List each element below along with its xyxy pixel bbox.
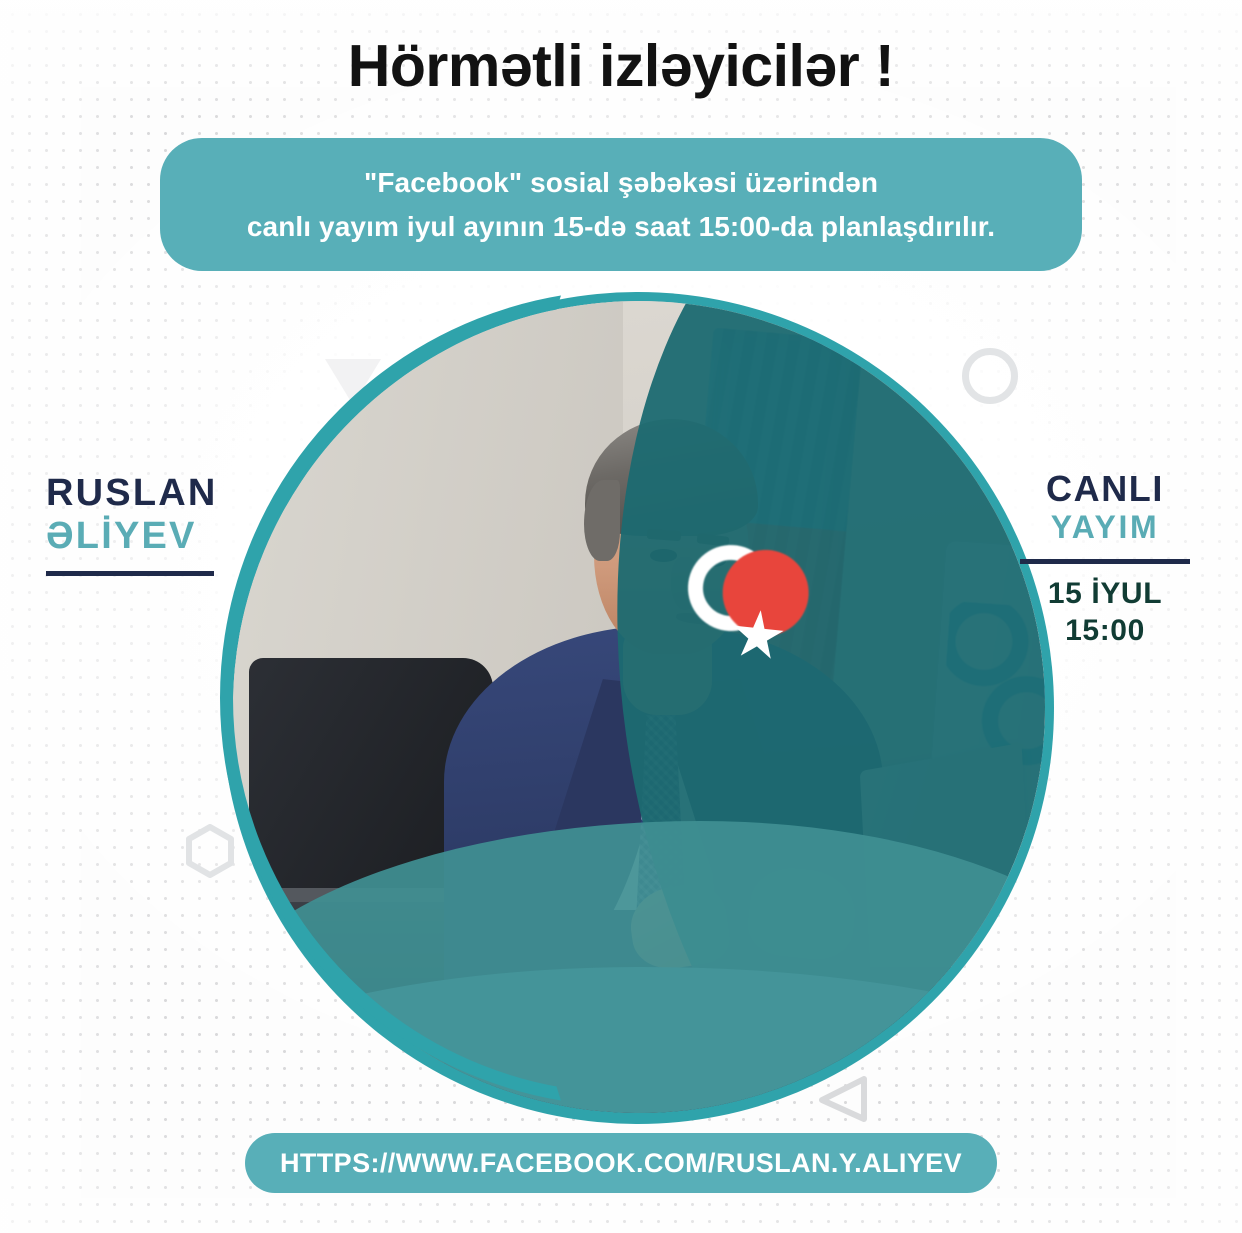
portrait-photo xyxy=(222,292,1054,1124)
announcement-line-1: "Facebook" sosial şəbəkəsi üzərindən xyxy=(364,167,878,199)
live-time: 15:00 xyxy=(1010,613,1200,650)
speaker-name-block: RUSLAN ƏLİYEV xyxy=(46,474,218,576)
facebook-url-text: HTTPS://WWW.FACEBOOK.COM/RUSLAN.Y.ALIYEV xyxy=(280,1148,962,1179)
speaker-last-name: ƏLİYEV xyxy=(46,514,218,560)
page-title: Hörmətli izləyicilər ! xyxy=(0,32,1242,100)
speaker-name-underline xyxy=(46,571,214,576)
announcement-line-2: canlı yayım iyul ayının 15-də saat 15:00… xyxy=(247,211,995,243)
live-date: 15 İYUL xyxy=(1010,576,1200,613)
poster-canvas: Hörmətli izləyicilər ! "Facebook" sosial… xyxy=(0,0,1242,1233)
announcement-banner: "Facebook" sosial şəbəkəsi üzərindən can… xyxy=(160,138,1082,271)
live-label-top: CANLI xyxy=(1010,470,1200,508)
live-label-bottom: YAYIM xyxy=(1010,508,1200,546)
speaker-first-name: RUSLAN xyxy=(46,474,218,514)
hair-sideburn xyxy=(584,480,620,561)
live-underline xyxy=(1020,559,1190,564)
live-broadcast-block: CANLI YAYIM 15 İYUL 15:00 xyxy=(1010,470,1200,649)
facebook-url-pill[interactable]: HTTPS://WWW.FACEBOOK.COM/RUSLAN.Y.ALIYEV xyxy=(245,1133,997,1193)
